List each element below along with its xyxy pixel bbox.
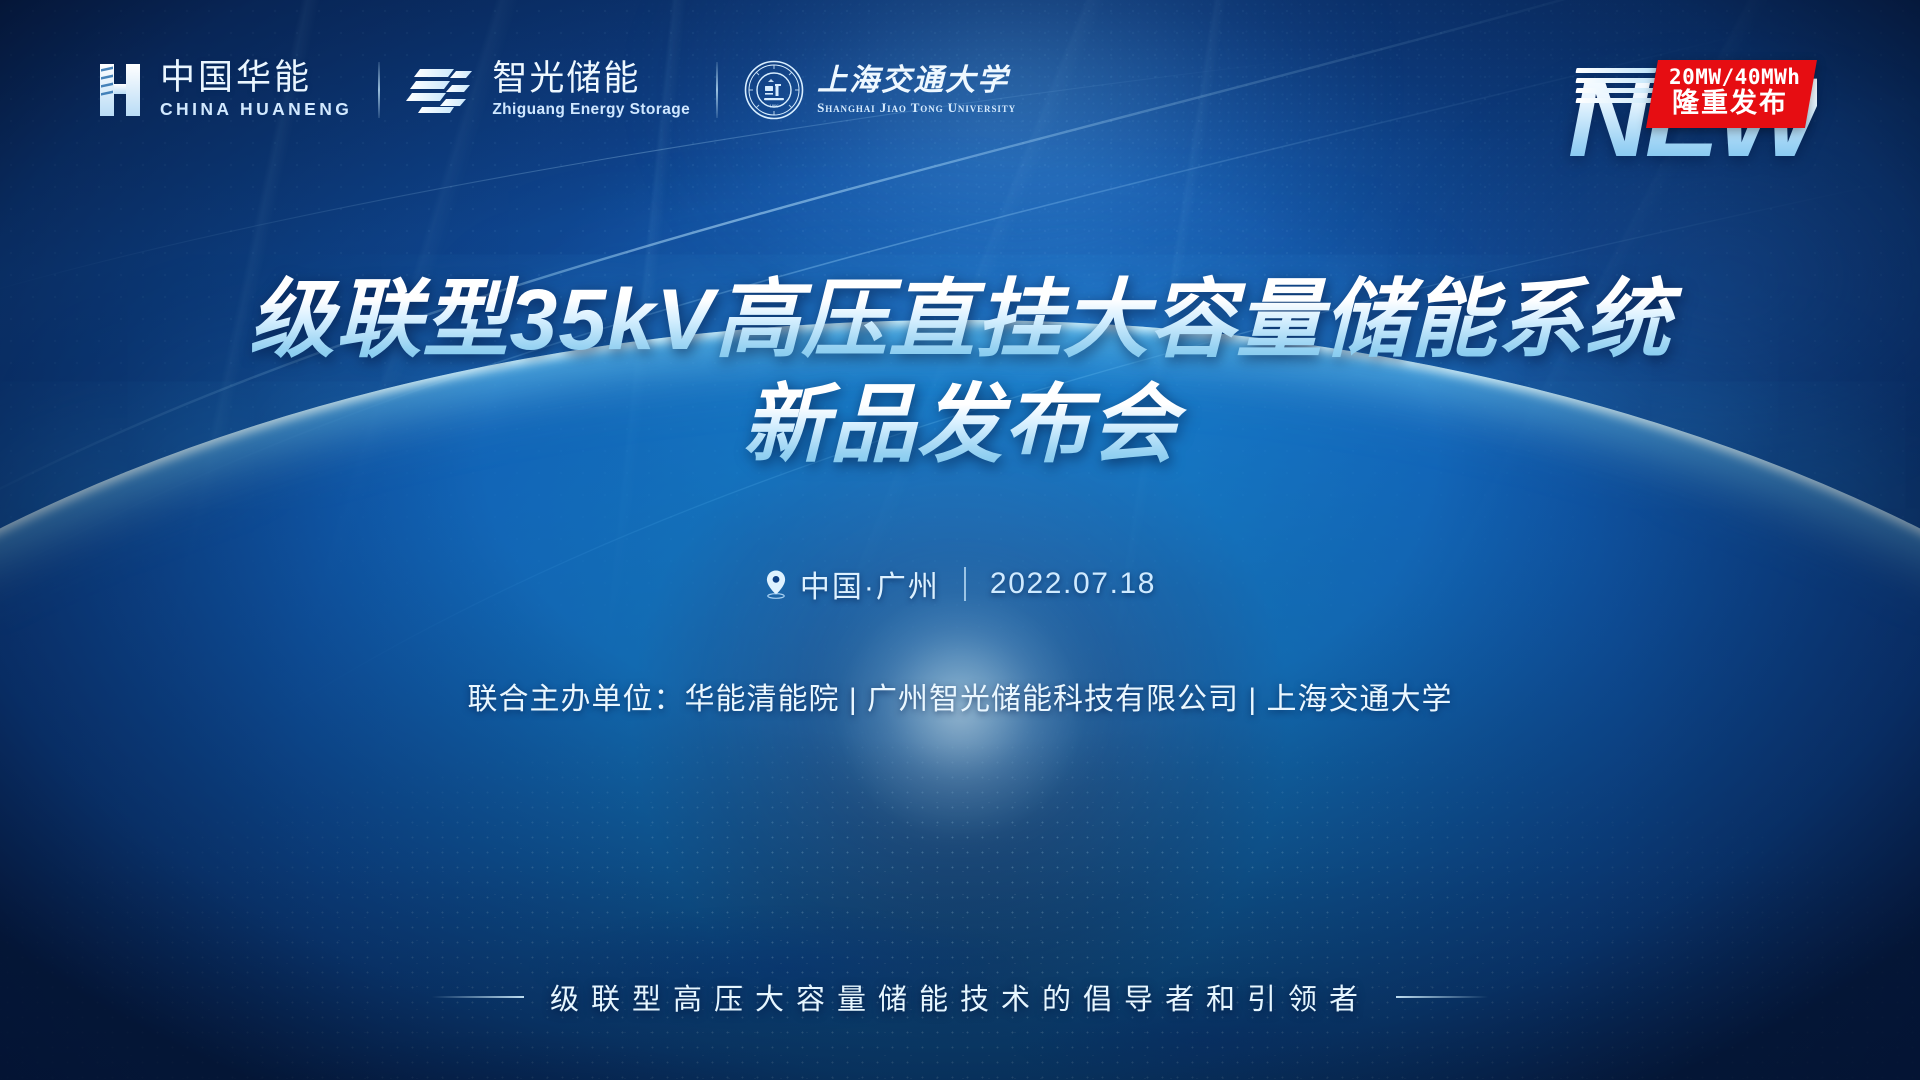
poster-title: 级联型35kV高压直挂大容量储能系统 新品发布会 (0, 268, 1920, 478)
sjtu-name-cn: 上海交通大学 (817, 64, 1016, 97)
title-line-1: 级联型35kV高压直挂大容量储能系统 (0, 268, 1920, 373)
new-badge-red-ribbon: 20MW/40MWh 隆重发布 (1646, 60, 1817, 128)
sponsor-logo-row: 中国华能 CHINA HUANENG (92, 54, 1016, 126)
logo-divider-1 (378, 62, 380, 118)
new-release-badge: NEW 20MW/40MWh 隆重发布 (1568, 36, 1868, 176)
sjtu-wordmark: 上海交通大学 Shanghai Jiao Tong University (817, 64, 1016, 116)
poster-tagline: 级联型高压大容量储能技术的倡导者和引领者 (0, 976, 1920, 1018)
tagline-text: 级联型高压大容量储能技术的倡导者和引领者 (550, 976, 1370, 1018)
zhiguang-name-cn: 智光储能 (492, 61, 690, 98)
organizers-line: 联合主办单位：华能清能院 | 广州智光储能科技有限公司 | 上海交通大学 (0, 674, 1920, 718)
badge-release-cn: 隆重发布 (1664, 89, 1795, 119)
zhiguang-name-en: Zhiguang Energy Storage (492, 101, 690, 119)
zhiguang-stacked-bars-icon (406, 65, 478, 115)
badge-capacity-spec: 20MW/40MWh (1669, 66, 1800, 88)
sjtu-name-en: Shanghai Jiao Tong University (817, 100, 1016, 116)
huaneng-name-cn: 中国华能 (160, 60, 352, 97)
tagline-rule-right (1396, 996, 1488, 998)
logo-divider-2 (716, 62, 718, 118)
shanghai-jiao-tong-university-seal-icon: 1896 (744, 60, 804, 120)
huaneng-name-en: CHINA HUANENG (160, 99, 352, 120)
event-location: 中国·广州 (764, 562, 940, 606)
meta-separator (964, 567, 966, 601)
event-poster: 中国华能 CHINA HUANENG (0, 0, 1920, 1080)
svg-text:1896: 1896 (770, 104, 780, 109)
event-meta: 中国·广州 2022.07.18 (0, 562, 1920, 606)
tagline-rule-left (432, 996, 524, 998)
china-huaneng-h-mark-icon (92, 62, 146, 118)
logo-china-huaneng: 中国华能 CHINA HUANENG (92, 60, 352, 121)
location-pin-icon (764, 569, 788, 599)
zhiguang-wordmark: 智光储能 Zhiguang Energy Storage (492, 61, 690, 119)
event-date: 2022.07.18 (990, 567, 1156, 601)
event-location-text: 中国·广州 (800, 562, 940, 606)
china-huaneng-wordmark: 中国华能 CHINA HUANENG (160, 60, 352, 121)
logo-sjtu: 1896 上海交通大学 Shanghai Jiao Tong Universit… (744, 60, 1016, 120)
title-line-2: 新品发布会 (0, 373, 1920, 478)
logo-zhiguang: 智光储能 Zhiguang Energy Storage (406, 61, 690, 119)
